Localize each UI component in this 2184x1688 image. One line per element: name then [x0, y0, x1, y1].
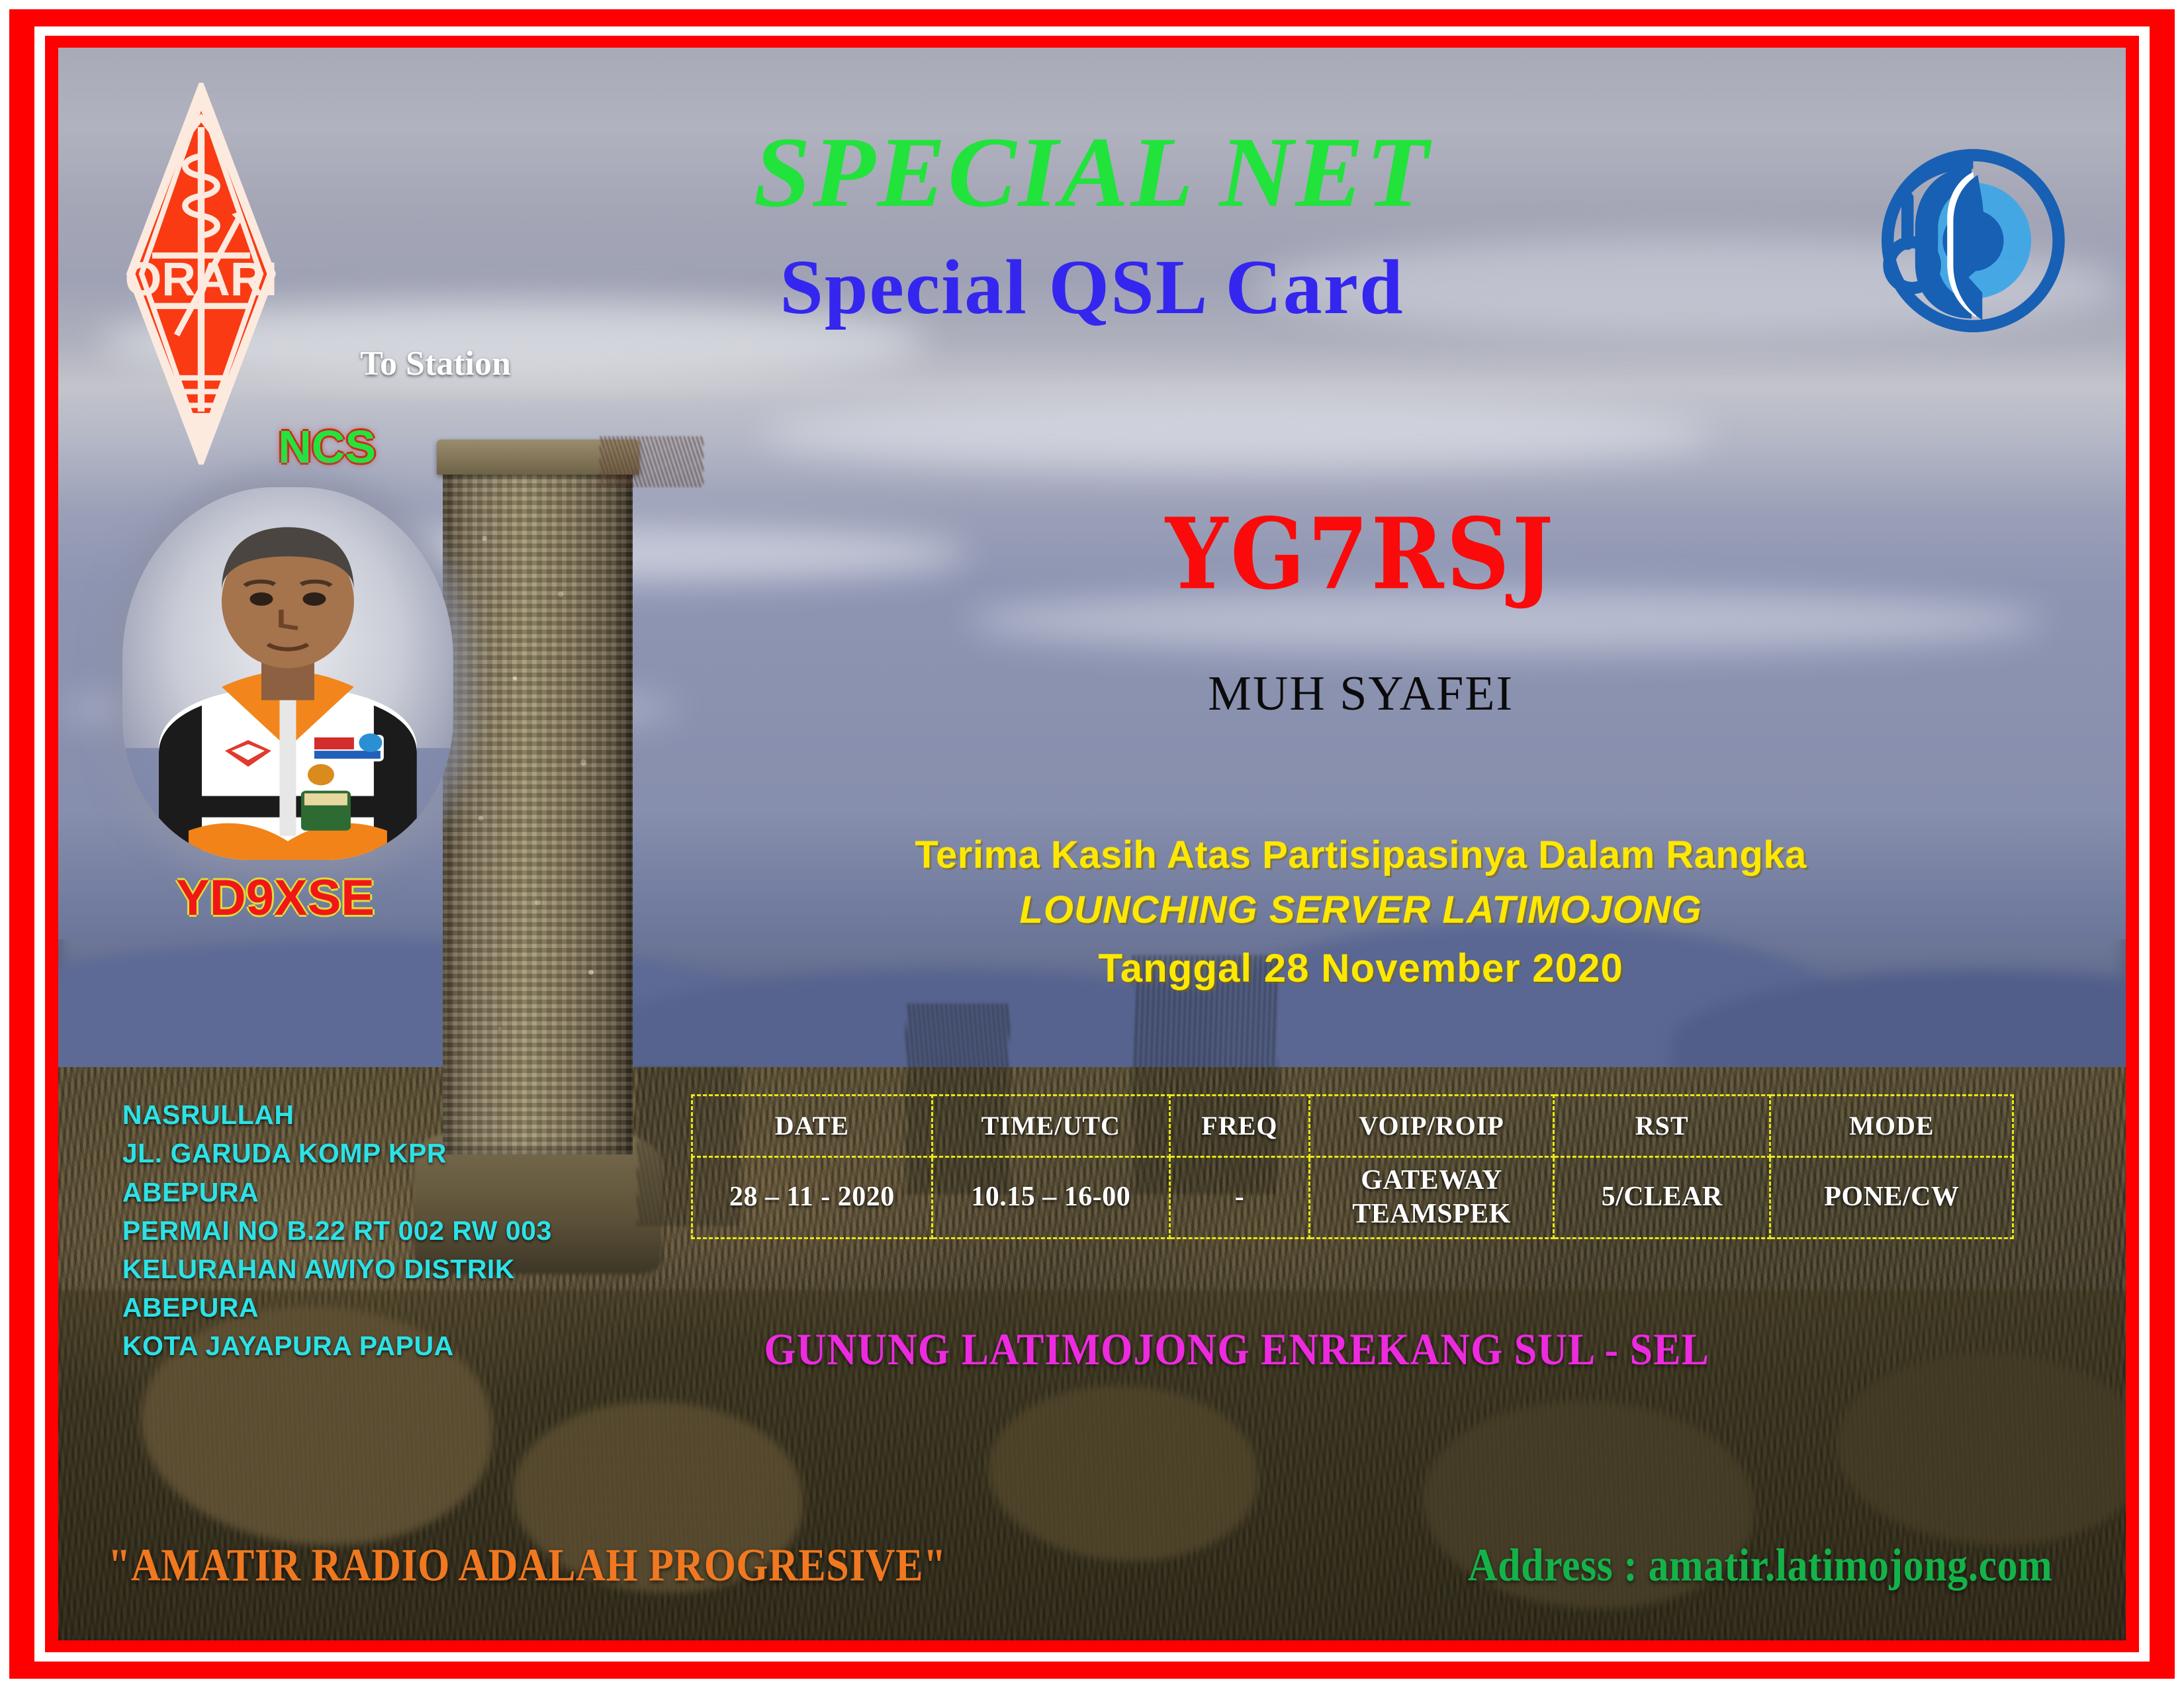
- column-header-voip: VOIP/ROIP: [1310, 1095, 1554, 1156]
- ncs-label: NCS: [182, 420, 471, 473]
- column-header-date: DATE: [692, 1095, 932, 1156]
- cell-voip: GATEWAY TEAMSPEK: [1310, 1156, 1554, 1238]
- page-title-special-net: SPECIAL NET: [58, 115, 2126, 230]
- cell-mode: PONE/CW: [1770, 1156, 2013, 1238]
- footer-bar: "AMATIR RADIO ADALAH PROGRESIVE" Address…: [58, 1542, 2126, 1589]
- column-header-freq: FREQ: [1169, 1095, 1309, 1156]
- background-photo: ORARI SPECIAL NET Special Q: [58, 48, 2126, 1640]
- station-callsign: YG7RSJ: [906, 497, 1816, 612]
- ncs-callsign: YD9XSE: [99, 869, 451, 927]
- operator-name: MUH SYAFEI: [906, 666, 1816, 722]
- qsl-card: ORARI SPECIAL NET Special Q: [0, 0, 2184, 1688]
- table-header-row: DATE TIME/UTC FREQ VOIP/ROIP RST MODE: [692, 1095, 2013, 1156]
- address-line: ABEPURA: [122, 1288, 805, 1327]
- address-line: KELURAHAN AWIYO DISTRIK: [122, 1250, 805, 1288]
- column-header-rst: RST: [1553, 1095, 1770, 1156]
- location-caption: GUNUNG LATIMOJONG ENREKANG SUL - SEL: [637, 1324, 1837, 1376]
- monument-vegetation: [600, 436, 703, 487]
- cell-time: 10.15 – 16-00: [932, 1156, 1169, 1238]
- footer-motto: "AMATIR RADIO ADALAH PROGRESIVE": [108, 1540, 946, 1593]
- cell-date: 28 – 11 - 2020: [692, 1156, 932, 1238]
- footer-web-address: Address : amatir.latimojong.com: [1468, 1540, 2052, 1593]
- cell-rst: 5/CLEAR: [1553, 1156, 1770, 1238]
- ncs-operator-photo: [122, 487, 453, 860]
- cloud-band: [761, 398, 1712, 469]
- table-row: 28 – 11 - 2020 10.15 – 16-00 - GATEWAY T…: [692, 1156, 2013, 1238]
- stone-monument-pillar: [443, 454, 633, 1155]
- cell-voip-line-1: GATEWAY: [1311, 1164, 1552, 1197]
- page-subtitle-qsl-card: Special QSL Card: [58, 242, 2126, 332]
- qso-log-table: DATE TIME/UTC FREQ VOIP/ROIP RST MODE 28…: [691, 1094, 2014, 1239]
- thanks-line-3: Tanggal 28 November 2020: [720, 945, 2002, 991]
- thanks-line-2: LOUNCHING SERVER LATIMOJONG: [720, 888, 2002, 932]
- to-station-label: To Station: [360, 344, 511, 383]
- cell-freq: -: [1169, 1156, 1309, 1238]
- column-header-mode: MODE: [1770, 1095, 2013, 1156]
- cell-voip-line-2: TEAMSPEK: [1311, 1197, 1552, 1231]
- thanks-message-block: Terima Kasih Atas Partisipasinya Dalam R…: [720, 833, 2002, 991]
- column-header-time: TIME/UTC: [932, 1095, 1169, 1156]
- thanks-line-1: Terima Kasih Atas Partisipasinya Dalam R…: [720, 833, 2002, 877]
